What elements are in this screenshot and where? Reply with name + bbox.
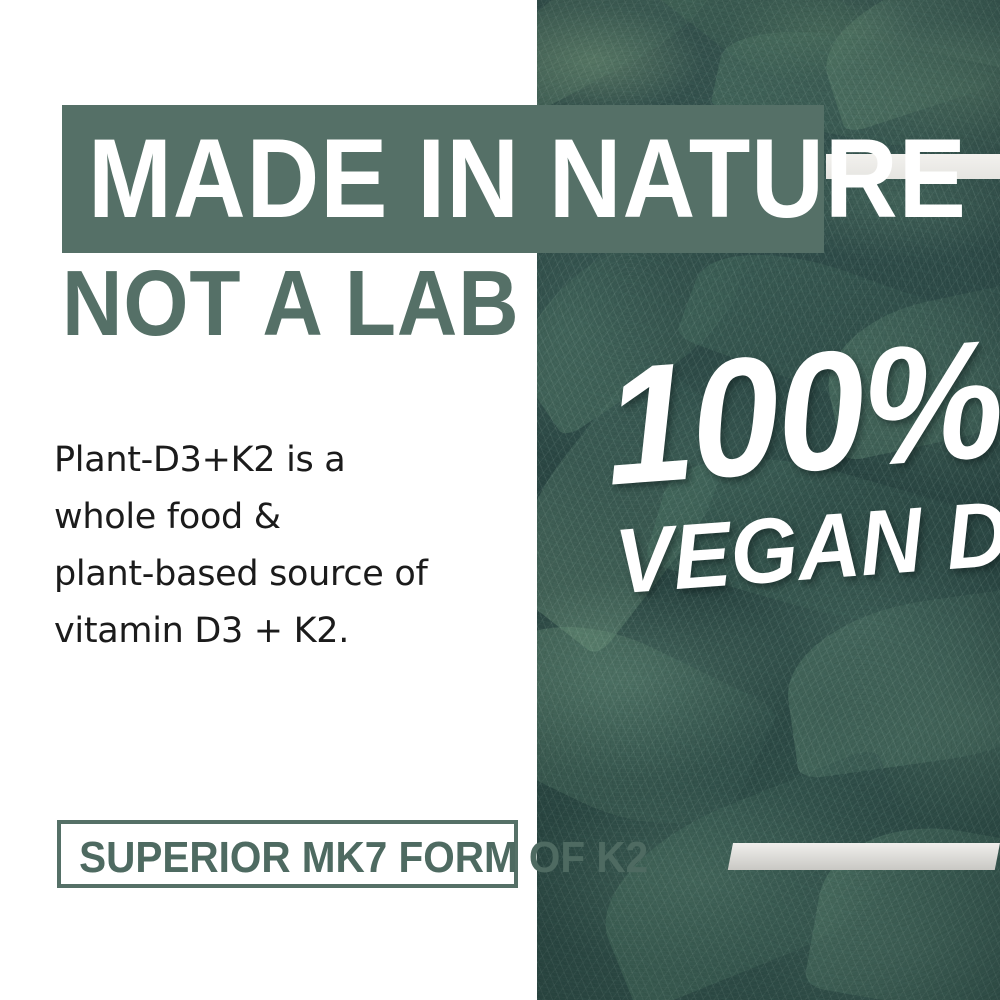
- body-paragraph: Plant-D3+K2 is a whole food & plant-base…: [54, 432, 504, 660]
- product-infographic: MADE IN NATURE NOT A LAB Plant-D3+K2 is …: [0, 0, 1000, 1000]
- body-line: plant-based source of: [54, 546, 504, 603]
- headline-banner: MADE IN NATURE: [62, 105, 824, 253]
- mk7-badge: SUPERIOR MK7 FORM OF K2: [57, 820, 518, 888]
- headline-primary: MADE IN NATURE: [88, 121, 967, 237]
- body-line: whole food &: [54, 489, 504, 546]
- body-line: vitamin D3 + K2.: [54, 603, 504, 660]
- body-line: Plant-D3+K2 is a: [54, 432, 504, 489]
- headline-secondary: NOT A LAB: [62, 255, 520, 351]
- white-accent-bar-bottom: [728, 843, 1000, 870]
- mk7-badge-label: SUPERIOR MK7 FORM OF K2: [79, 835, 496, 881]
